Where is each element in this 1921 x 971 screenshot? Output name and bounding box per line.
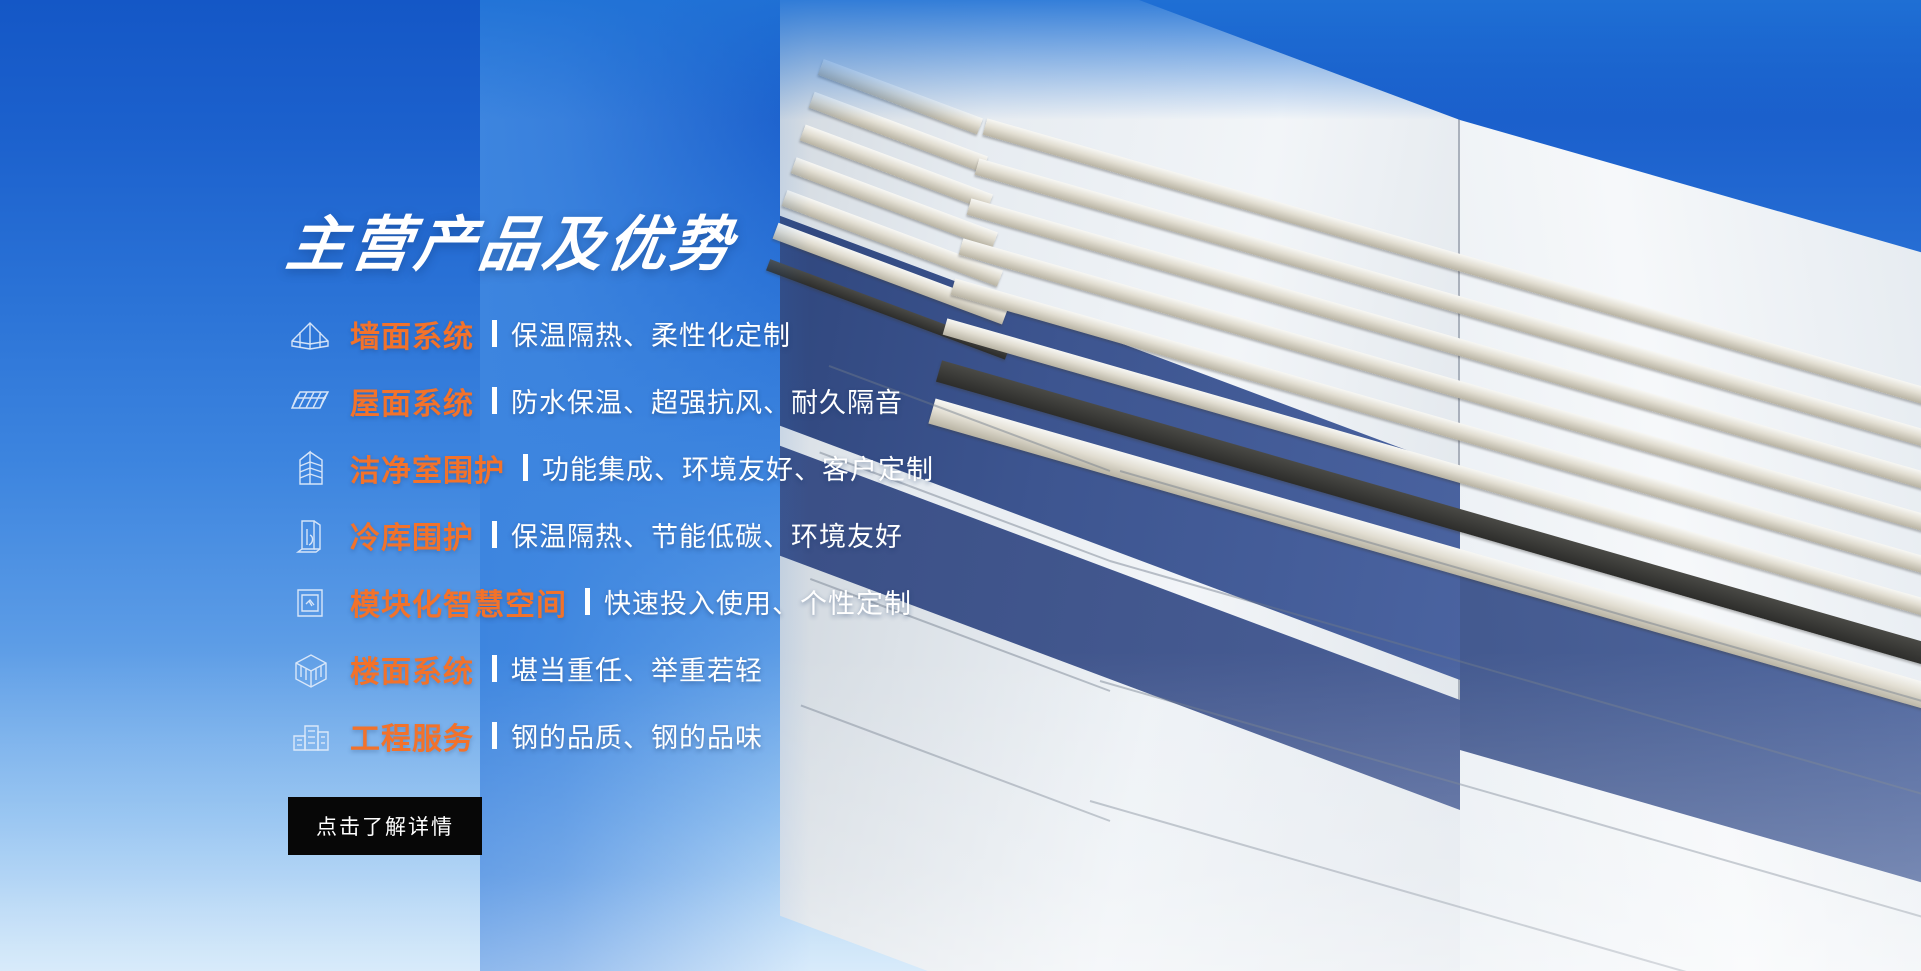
feature-description: 保温隔热、柔性化定制 [511,314,791,353]
product-feature-list: 墙面系统 保温隔热、柔性化定制 屋面系统 防水保温、超强抗风、耐久隔音 [288,300,1238,769]
product-advantages-banner: 主营产品及优势 墙面系统 保温隔热、柔性化定制 [0,0,1921,971]
feature-title: 洁净室围护 [350,446,505,490]
feature-separator [585,588,590,615]
wall-panel-icon [288,312,342,356]
cold-storage-icon [288,513,342,557]
roof-panel-icon [288,379,342,423]
feature-separator [492,320,497,347]
feature-description: 防水保温、超强抗风、耐久隔音 [511,381,903,420]
learn-more-button[interactable]: 点击了解详情 [288,797,482,855]
feature-description: 功能集成、环境友好、客户定制 [542,448,934,487]
feature-description: 钢的品质、钢的品味 [511,716,763,755]
feature-separator [492,722,497,749]
feature-title: 屋面系统 [350,379,474,423]
feature-description: 快速投入使用、个性定制 [604,582,912,621]
feature-title: 楼面系统 [350,647,474,691]
feature-description: 堪当重任、举重若轻 [511,649,763,688]
list-item[interactable]: 屋面系统 防水保温、超强抗风、耐久隔音 [288,367,1238,434]
feature-title: 冷库围护 [350,513,474,557]
page-title: 主营产品及优势 [282,196,742,283]
list-item[interactable]: 墙面系统 保温隔热、柔性化定制 [288,300,1238,367]
floor-system-icon [288,647,342,691]
engineering-service-icon [288,714,342,758]
cleanroom-icon [288,446,342,490]
list-item[interactable]: 冷库围护 保温隔热、节能低碳、环境友好 [288,501,1238,568]
modular-space-icon [288,580,342,624]
feature-separator [523,454,528,481]
list-item[interactable]: 楼面系统 堪当重任、举重若轻 [288,635,1238,702]
feature-separator [492,387,497,414]
list-item[interactable]: 模块化智慧空间 快速投入使用、个性定制 [288,568,1238,635]
feature-title: 工程服务 [350,714,474,758]
list-item[interactable]: 工程服务 钢的品质、钢的品味 [288,702,1238,769]
feature-separator [492,521,497,548]
list-item[interactable]: 洁净室围护 功能集成、环境友好、客户定制 [288,434,1238,501]
feature-title: 模块化智慧空间 [350,580,567,624]
feature-separator [492,655,497,682]
feature-description: 保温隔热、节能低碳、环境友好 [511,515,903,554]
banner-content: 主营产品及优势 墙面系统 保温隔热、柔性化定制 [0,0,1000,971]
feature-title: 墙面系统 [350,312,474,356]
